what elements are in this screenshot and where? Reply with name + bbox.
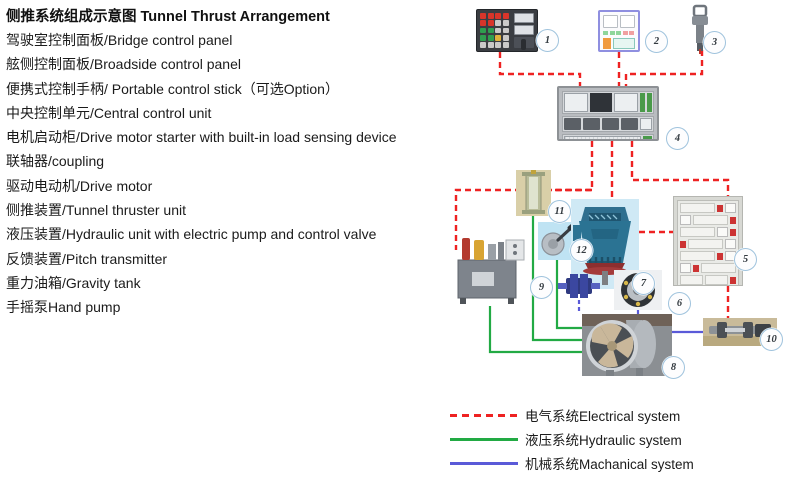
callout-11: 11 (548, 200, 571, 223)
item-label-8: 侧推装置/Tunnel thruster unit (6, 198, 458, 222)
hydraulic-unit[interactable] (452, 238, 530, 306)
terminal-shelf (562, 134, 654, 141)
io-module (614, 93, 638, 112)
item-label-10: 反馈装置/Pitch transmitter (6, 247, 458, 271)
drive-motor-starter-cabinet[interactable] (673, 196, 743, 286)
starter-row-2 (680, 215, 736, 225)
starter-row-3 (680, 227, 736, 237)
lcd-readout (613, 38, 635, 49)
callout-3: 3 (703, 31, 726, 54)
panel-display-group (514, 13, 534, 48)
power-supply-module (564, 93, 588, 112)
item-label-3: 便携式控制手柄/ Portable control stick（可选Option… (6, 77, 458, 101)
starter-row-1 (680, 203, 736, 213)
callout-8: 8 (662, 356, 685, 379)
indicator-row (603, 30, 635, 36)
callout-12: 12 (570, 239, 593, 262)
item-label-4: 中央控制单元/Central control unit (6, 101, 458, 125)
callout-7: 7 (632, 272, 655, 295)
starter-row-7 (680, 275, 736, 285)
gearbox-unit[interactable] (558, 272, 600, 300)
item-label-6: 联轴器/coupling (6, 149, 458, 173)
green-module-a (640, 93, 645, 112)
cabinet-bay (677, 200, 739, 286)
wire-electrical-1-to-4 (500, 52, 580, 86)
legend-label-hydraulic: 液压系统Hydraulic system (525, 429, 682, 449)
hydraulic-unit-icon (452, 238, 530, 306)
system-legend: 电气系统Electrical system 液压系统Hydraulic syst… (450, 403, 780, 475)
starter-row-5 (680, 251, 736, 261)
keypad-array (480, 13, 512, 48)
display-upper (514, 13, 534, 23)
gearbox-icon (558, 272, 600, 300)
starter-row-4 (680, 239, 736, 249)
relay-spare (640, 118, 652, 130)
callout-6: 6 (668, 292, 691, 315)
item-label-1: 驾驶室控制面板/Bridge control panel (6, 28, 458, 52)
display-lower (514, 25, 534, 35)
page-title: 侧推系统组成示意图 Tunnel Thrust Arrangement (6, 6, 458, 28)
item-label-12: 手摇泵Hand pump (6, 295, 458, 319)
item-label-9: 液压装置/Hydraulic unit with electric pump a… (6, 222, 458, 246)
legend-row-electrical: 电气系统Electrical system (450, 403, 780, 427)
control-row (603, 38, 635, 49)
callout-10: 10 (760, 328, 783, 351)
relay-shelf (562, 116, 654, 132)
plc-shelf (562, 91, 654, 114)
legend-row-hydraulic: 液压系统Hydraulic system (450, 427, 780, 451)
broadside-control-panel[interactable] (598, 10, 640, 52)
legend-label-electrical: 电气系统Electrical system (525, 405, 680, 425)
item-label-2: 舷侧控制面板/Broadside control panel (6, 52, 458, 76)
legend-row-mechanical: 机械系统Machanical system (450, 451, 780, 475)
callout-2: 2 (645, 30, 668, 53)
description-panel: 侧推系统组成示意图 Tunnel Thrust Arrangement 驾驶室控… (6, 6, 458, 320)
item-label-7: 驱动电动机/Drive motor (6, 174, 458, 198)
legend-label-mechanical: 机械系统Machanical system (525, 453, 694, 473)
gravity-tank[interactable] (516, 170, 551, 216)
wire-electrical-3-to-4 (626, 50, 702, 86)
terminal-green-block (643, 136, 652, 141)
callout-1: 1 (536, 29, 559, 52)
green-module-b (647, 93, 652, 112)
plc-module (590, 93, 612, 112)
callout-5: 5 (734, 248, 757, 271)
mechanical-line-swatch (450, 462, 518, 465)
panel-joystick[interactable] (514, 37, 534, 48)
relay-d (621, 118, 638, 130)
amber-button[interactable] (603, 38, 611, 49)
terminal-strip (564, 136, 641, 141)
tunnel-thruster-unit[interactable] (582, 314, 672, 376)
callout-9: 9 (530, 276, 553, 299)
relay-a (564, 118, 581, 130)
starter-row-6 (680, 263, 736, 273)
bridge-control-panel[interactable] (476, 9, 538, 52)
item-label-5: 电机启动柜/Drive motor starter with built-in … (6, 125, 458, 149)
tunnel-thruster-icon (582, 314, 672, 376)
dual-screen (603, 15, 635, 28)
gravity-tank-icon (516, 170, 551, 216)
callout-4: 4 (666, 127, 689, 150)
electrical-line-swatch (450, 414, 518, 417)
relay-c (602, 118, 619, 130)
central-control-unit[interactable] (557, 86, 659, 141)
item-label-11: 重力油箱/Gravity tank (6, 271, 458, 295)
relay-b (583, 118, 600, 130)
hydraulic-line-swatch (450, 438, 518, 441)
